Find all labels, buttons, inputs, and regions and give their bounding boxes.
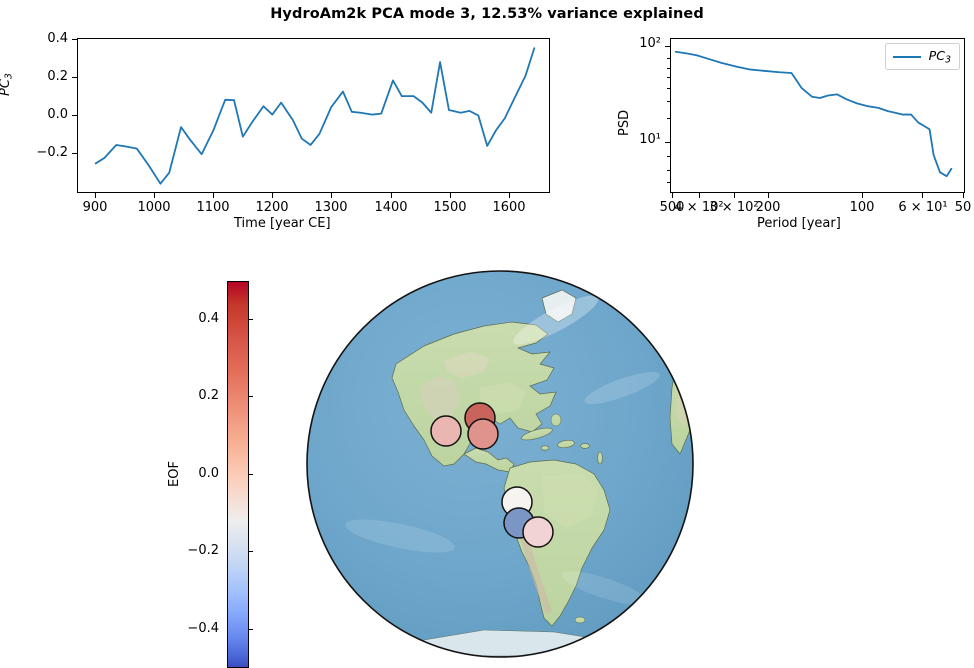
pc3-plot-area (77, 38, 550, 193)
globe-svg (304, 268, 696, 660)
pc3-x-axis-label: Time [year CE] (234, 216, 331, 231)
bahamas-island (551, 414, 561, 426)
colorbar-tick-mark (249, 474, 253, 475)
colorbar-gradient-wrap: 0.4 0.2 0.0 −0.2 −0.4 (227, 281, 249, 668)
colorbar-tick-mark (249, 319, 253, 320)
pc3-xtick-label: 1200 (242, 200, 302, 215)
pc3-xtick-label: 1600 (479, 200, 539, 215)
jamaica-island (541, 446, 549, 450)
pc3-ytick-label: −0.2 (8, 145, 68, 160)
pc3-xtick-mark (154, 193, 155, 198)
psd-legend-label: PC3 (929, 48, 951, 65)
orthographic-globe-map (304, 268, 696, 660)
proxy-site-3[interactable] (468, 419, 498, 449)
psd-data-line (676, 52, 952, 176)
pc3-xtick-mark (213, 193, 214, 198)
proxy-site-1[interactable] (431, 416, 461, 446)
falklands-island (575, 617, 585, 623)
psd-ytick-label: 10¹ (615, 132, 661, 147)
figure-canvas: HydroAm2k PCA mode 3, 12.53% variance ex… (0, 0, 974, 668)
pc3-xtick-label: 1500 (420, 200, 480, 215)
pc3-xtick-mark (391, 193, 392, 198)
colorbar-tick-mark (249, 551, 253, 552)
colorbar-tick-label: −0.2 (159, 543, 219, 558)
psd-xtick-mark (862, 193, 863, 198)
pc3-xtick-label: 1100 (183, 200, 243, 215)
figure-title: HydroAm2k PCA mode 3, 12.53% variance ex… (0, 6, 974, 22)
proxy-marker-circle[interactable] (523, 517, 553, 547)
pc3-line-chart (78, 39, 549, 192)
colorbar-tick-label: −0.4 (159, 621, 219, 636)
psd-xtick-mark (768, 193, 769, 198)
colorbar-tick-label: 0.2 (159, 388, 219, 403)
colorbar-tick-label: 0.0 (159, 466, 219, 481)
colorbar-gradient (227, 281, 249, 668)
pc3-xtick-label: 1400 (361, 200, 421, 215)
proxy-marker-circle[interactable] (431, 416, 461, 446)
colorbar-tick-mark (249, 396, 253, 397)
pc3-xtick-mark (331, 193, 332, 198)
psd-ytick-label: 10² (615, 36, 661, 51)
pc3-xtick-mark (95, 193, 96, 198)
psd-legend-label-text: PC (929, 48, 945, 63)
colorbar-tick-mark (249, 629, 253, 630)
psd-xtick-mark (672, 193, 673, 198)
psd-xtick-mark (922, 193, 923, 198)
proxy-marker-circle[interactable] (468, 419, 498, 449)
pc3-xtick-label: 900 (65, 200, 125, 215)
pc3-xtick-mark (272, 193, 273, 198)
pc3-ytick-label: 0.0 (8, 107, 68, 122)
psd-xtick-mark (963, 193, 964, 198)
psd-legend[interactable]: PC3 (885, 43, 960, 70)
colorbar-tick-label: 0.4 (159, 311, 219, 326)
legend-line-swatch-icon (893, 56, 921, 58)
proxy-site-6[interactable] (523, 517, 553, 547)
psd-xtick-label: 200 (738, 200, 798, 215)
psd-legend-label-sub: 3 (945, 54, 951, 65)
pc3-xtick-label: 1000 (124, 200, 184, 215)
pc3-xtick-label: 1300 (301, 200, 361, 215)
pc3-ytick-label: 0.2 (8, 69, 68, 84)
psd-xtick-label: 50 (933, 200, 974, 215)
lesser-antilles-island (598, 452, 603, 464)
psd-plot-area: PC3 (670, 38, 965, 193)
pc3-xtick-mark (450, 193, 451, 198)
psd-x-axis-label: Period [year] (757, 216, 841, 231)
psd-xtick-mark (699, 193, 700, 198)
pc3-xtick-mark (509, 193, 510, 198)
psd-xtick-mark (734, 193, 735, 198)
puerto-rico-island (581, 444, 590, 449)
pc3-ytick-label: 0.4 (8, 31, 68, 46)
pc3-data-line (96, 48, 535, 183)
